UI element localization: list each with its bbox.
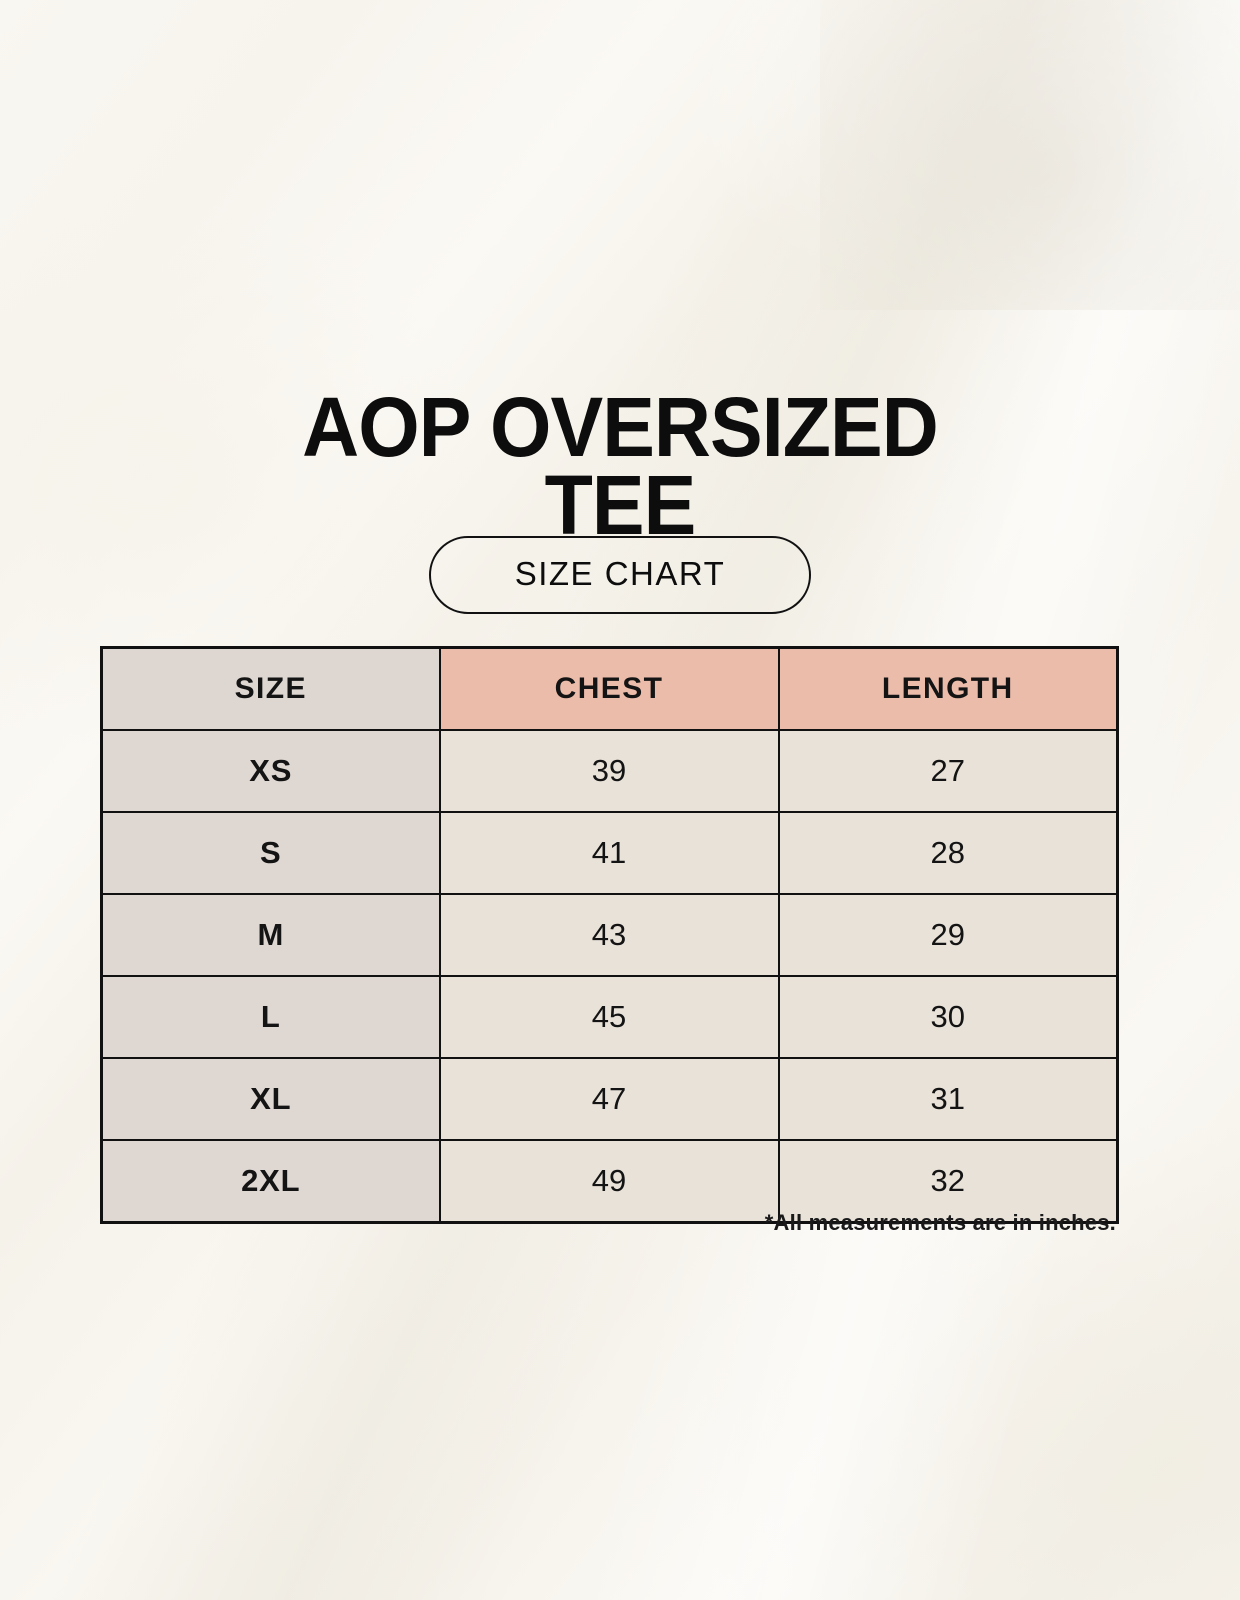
cell-chest: 45 bbox=[440, 976, 779, 1058]
cell-size: L bbox=[102, 976, 440, 1058]
cell-chest: 43 bbox=[440, 894, 779, 976]
table-row: S 41 28 bbox=[102, 812, 1118, 894]
table-row: XS 39 27 bbox=[102, 730, 1118, 812]
table-row: XL 47 31 bbox=[102, 1058, 1118, 1140]
cell-size: XS bbox=[102, 730, 440, 812]
table-row: L 45 30 bbox=[102, 976, 1118, 1058]
size-chart-badge: SIZE CHART bbox=[429, 536, 812, 614]
page-title-line-1: AOP OVERSIZED bbox=[37, 388, 1203, 466]
cell-size: S bbox=[102, 812, 440, 894]
cell-size: M bbox=[102, 894, 440, 976]
cell-length: 31 bbox=[779, 1058, 1118, 1140]
cell-length: 29 bbox=[779, 894, 1118, 976]
table-body: XS 39 27 S 41 28 M 43 29 L 45 30 XL 47 bbox=[102, 730, 1118, 1223]
table-header: SIZE CHEST LENGTH bbox=[102, 648, 1118, 731]
page-title-line-2: TEE bbox=[37, 466, 1203, 544]
size-chart-poster: AOP OVERSIZED TEE SIZE CHART SIZE CHEST … bbox=[0, 0, 1240, 1600]
column-header-chest: CHEST bbox=[440, 648, 779, 731]
size-chart-badge-wrap: SIZE CHART bbox=[0, 536, 1240, 614]
table-header-row: SIZE CHEST LENGTH bbox=[102, 648, 1118, 731]
cell-length: 27 bbox=[779, 730, 1118, 812]
cell-length: 30 bbox=[779, 976, 1118, 1058]
column-header-length: LENGTH bbox=[779, 648, 1118, 731]
cell-length: 28 bbox=[779, 812, 1118, 894]
cell-chest: 39 bbox=[440, 730, 779, 812]
cell-chest: 41 bbox=[440, 812, 779, 894]
size-chart-table: SIZE CHEST LENGTH XS 39 27 S 41 28 M 43 … bbox=[100, 646, 1119, 1224]
table-row: M 43 29 bbox=[102, 894, 1118, 976]
cell-chest: 47 bbox=[440, 1058, 779, 1140]
column-header-size: SIZE bbox=[102, 648, 440, 731]
measurement-units-note: *All measurements are in inches. bbox=[0, 1210, 1116, 1236]
cell-size: XL bbox=[102, 1058, 440, 1140]
page-title: AOP OVERSIZED TEE bbox=[37, 388, 1203, 544]
